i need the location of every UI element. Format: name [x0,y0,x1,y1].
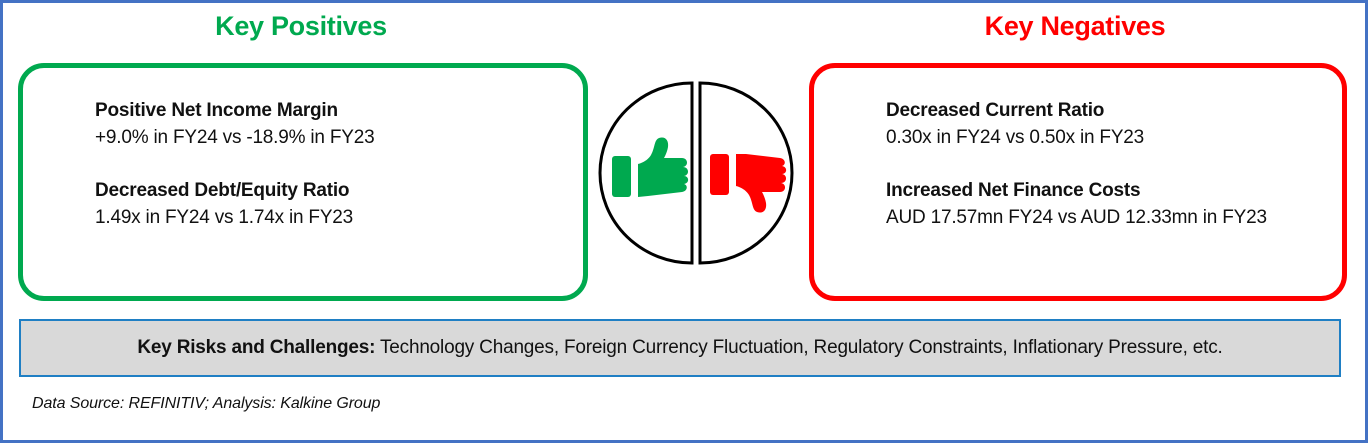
key-risks-text: Key Risks and Challenges: Technology Cha… [137,337,1222,359]
key-risks-banner: Key Risks and Challenges: Technology Cha… [19,319,1341,377]
key-negatives-panel: Decreased Current Ratio 0.30x in FY24 vs… [809,63,1347,301]
metric-value: AUD 17.57mn FY24 vs AUD 12.33mn in FY23 [886,205,1342,232]
metric-value: +9.0% in FY24 vs -18.9% in FY23 [95,125,583,152]
metric-value: 0.30x in FY24 vs 0.50x in FY23 [886,125,1342,152]
positive-metric-item: Positive Net Income Margin +9.0% in FY24… [95,98,583,152]
key-positives-panel: Positive Net Income Margin +9.0% in FY24… [18,63,588,301]
metric-value: 1.49x in FY24 vs 1.74x in FY23 [95,205,583,232]
key-risks-label: Key Risks and Challenges: [137,337,375,358]
metric-title: Decreased Current Ratio [886,98,1342,125]
metric-title: Positive Net Income Margin [95,98,583,125]
key-positives-negatives-infographic: Key Positives Key Negatives Positive Net… [0,0,1368,443]
key-positives-heading: Key Positives [3,12,599,42]
data-source-footnote: Data Source: REFINITIV; Analysis: Kalkin… [32,395,380,413]
metric-title: Decreased Debt/Equity Ratio [95,178,583,205]
key-negatives-heading: Key Negatives [793,12,1357,42]
key-risks-items: Technology Changes, Foreign Currency Flu… [375,337,1222,358]
thumbs-emblem [592,78,800,268]
negative-metric-item: Decreased Current Ratio 0.30x in FY24 vs… [886,98,1342,152]
metric-title: Increased Net Finance Costs [886,178,1342,205]
positive-metric-item: Decreased Debt/Equity Ratio 1.49x in FY2… [95,178,583,232]
negative-metric-item: Increased Net Finance Costs AUD 17.57mn … [886,178,1342,232]
